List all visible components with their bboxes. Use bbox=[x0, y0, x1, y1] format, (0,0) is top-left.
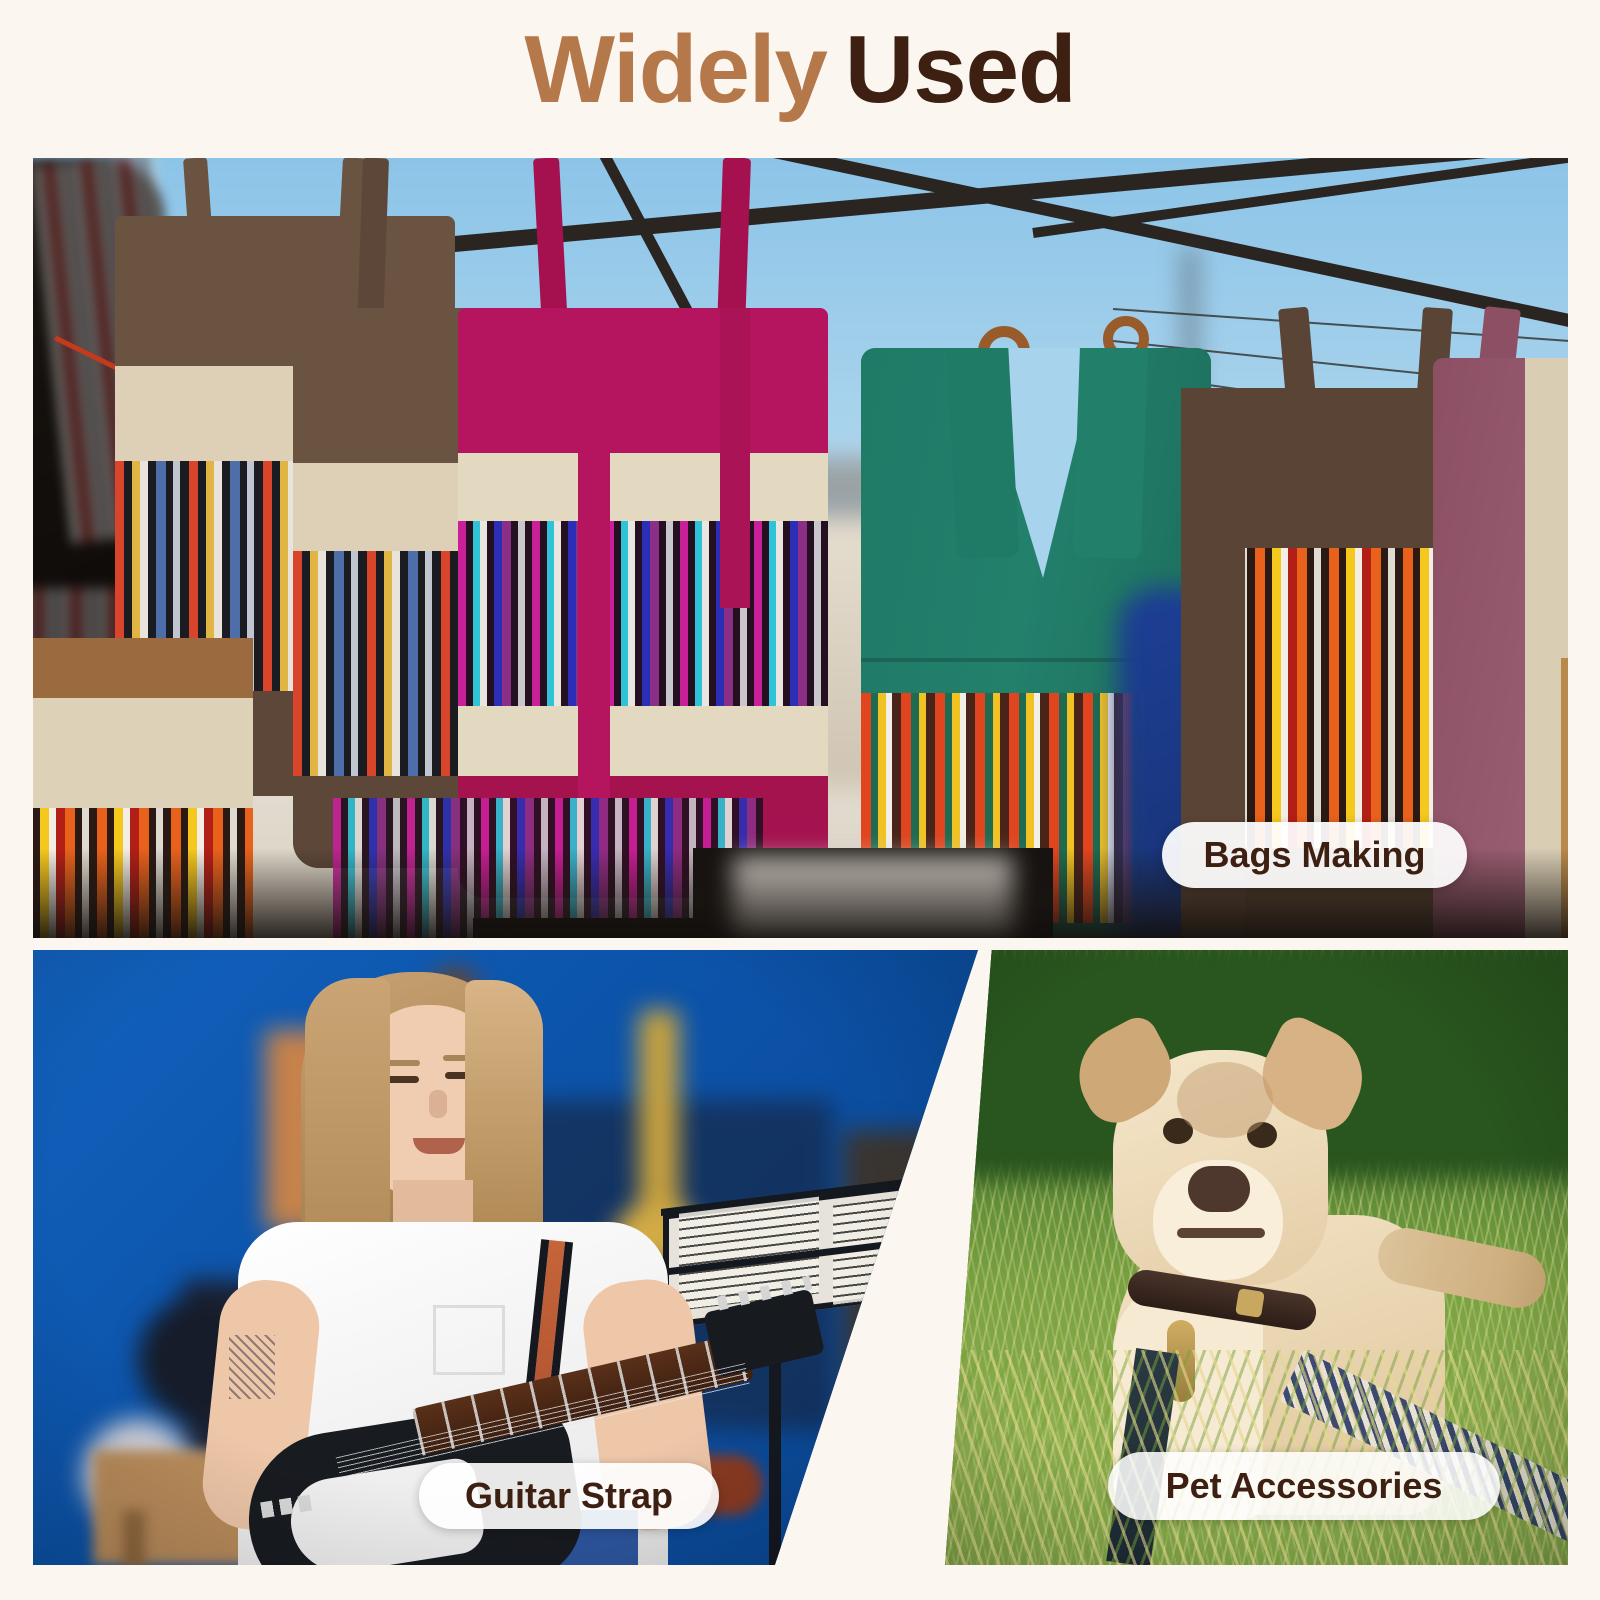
bag3-strap-overlay-2 bbox=[720, 308, 750, 608]
label-bags-making-text: Bags Making bbox=[1203, 834, 1425, 876]
bag3-aztec-panel bbox=[458, 521, 828, 706]
bag4-strap-right bbox=[1073, 348, 1150, 559]
page-title: WidelyUsed bbox=[0, 22, 1600, 118]
bag3-cream-band-bottom bbox=[458, 706, 828, 776]
bag3-cream-band-top bbox=[458, 453, 828, 521]
bag-tan-cream-band bbox=[33, 698, 253, 808]
label-bags-making[interactable]: Bags Making bbox=[1162, 822, 1467, 888]
page-title-light-part: Widely bbox=[524, 22, 827, 118]
page-title-dark-part: Used bbox=[845, 22, 1076, 118]
label-pet-accessories[interactable]: Pet Accessories bbox=[1108, 1452, 1500, 1520]
bag4-strap-left bbox=[945, 348, 1019, 559]
label-guitar-strap-text: Guitar Strap bbox=[465, 1475, 673, 1517]
label-guitar-strap[interactable]: Guitar Strap bbox=[419, 1463, 719, 1529]
label-pet-accessories-text: Pet Accessories bbox=[1166, 1465, 1443, 1507]
panel-bags-making[interactable] bbox=[33, 158, 1568, 938]
promo-page: WidelyUsed bbox=[0, 0, 1600, 1600]
